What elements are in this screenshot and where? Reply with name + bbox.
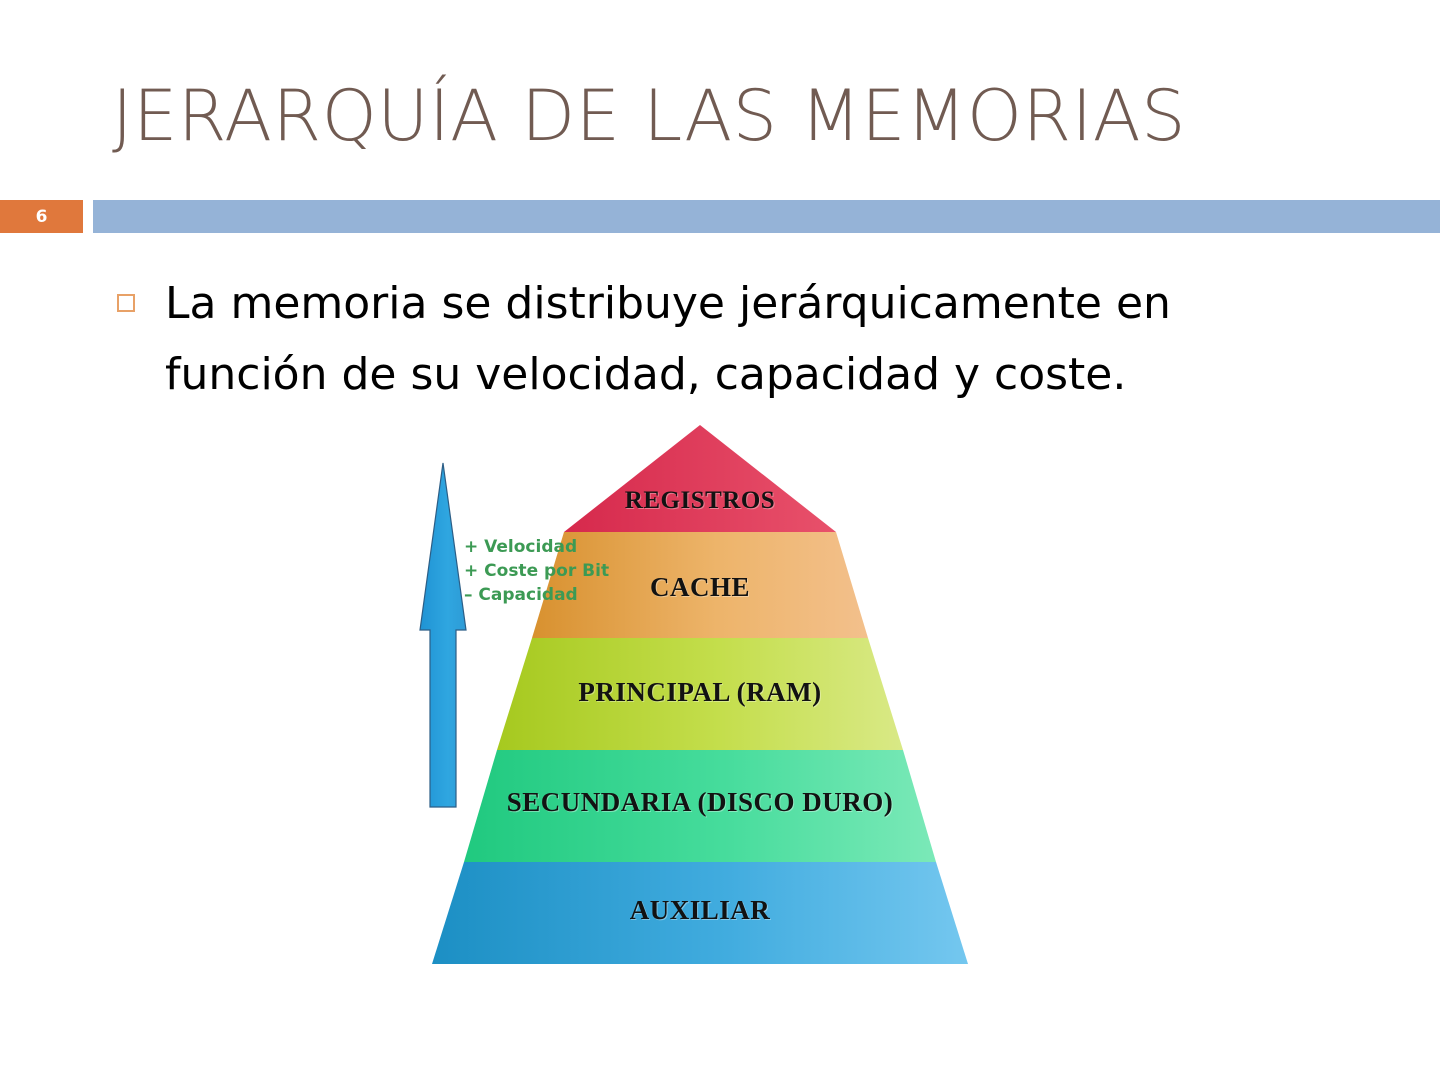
pyramid-label-secundaria: SECUNDARIA (DISCO DURO) [400, 787, 1000, 818]
pyramid-label-registros: REGISTROS [400, 487, 1000, 515]
square-outline-bullet-icon [117, 294, 135, 312]
page-title: JERARQUÍA DE LAS MEMORIAS [112, 72, 1362, 162]
arrow-note-velocidad: + Velocidad [464, 535, 654, 559]
presentation-slide: JERARQUÍA DE LAS MEMORIAS 6 La memoria s… [0, 0, 1440, 1080]
slide-number-badge: 6 [0, 200, 83, 233]
pyramid-label-principal: PRINCIPAL (RAM) [400, 677, 1000, 708]
bullet-item-text: La memoria se distribuye jerárquicamente… [165, 268, 1285, 410]
arrow-note-coste: + Coste por Bit [464, 559, 654, 583]
arrow-note-capacidad: – Capacidad [464, 583, 654, 607]
pyramid-label-auxiliar: AUXILIAR [400, 895, 1000, 926]
pyramid-level-registros [564, 425, 836, 532]
accent-bar [93, 200, 1440, 233]
memory-hierarchy-pyramid: REGISTROS CACHE PRINCIPAL (RAM) SECUNDAR… [400, 410, 1000, 990]
arrow-annotation-list: + Velocidad + Coste por Bit – Capacidad [464, 535, 654, 607]
